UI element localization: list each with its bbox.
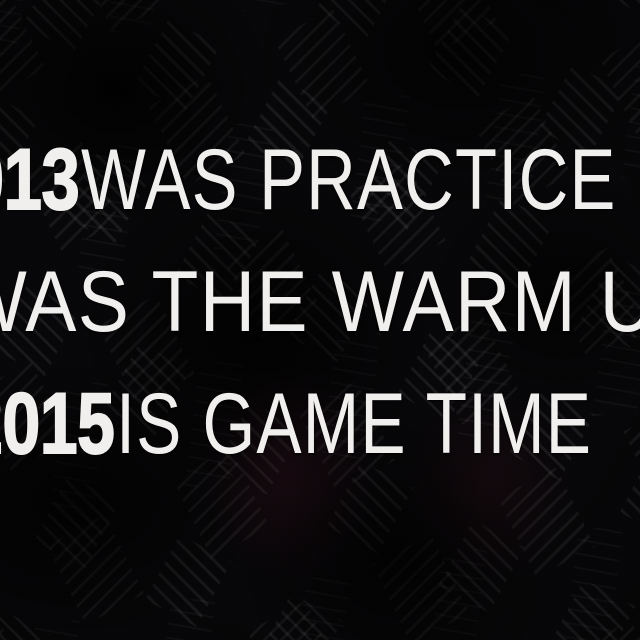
quote-line-2: 2014 WAS THE WARM UP <box>0 259 640 381</box>
quote-line-1-year: 2013 <box>0 137 79 223</box>
quote-line-1: 2013 WAS PRACTICE <box>0 137 640 259</box>
quote-line-2-text: WAS THE WARM UP <box>0 259 640 345</box>
quote-line-1-text: WAS PRACTICE <box>81 137 617 223</box>
quote-line-3-text: IS GAME TIME <box>117 381 593 467</box>
quote-line-3: 2015 IS GAME TIME <box>0 381 640 503</box>
quote-text-block: 2013 WAS PRACTICE 2014 WAS THE WARM UP 2… <box>0 0 640 640</box>
quote-poster: 2013 WAS PRACTICE 2014 WAS THE WARM UP 2… <box>0 0 640 640</box>
quote-line-3-year: 2015 <box>0 381 115 467</box>
